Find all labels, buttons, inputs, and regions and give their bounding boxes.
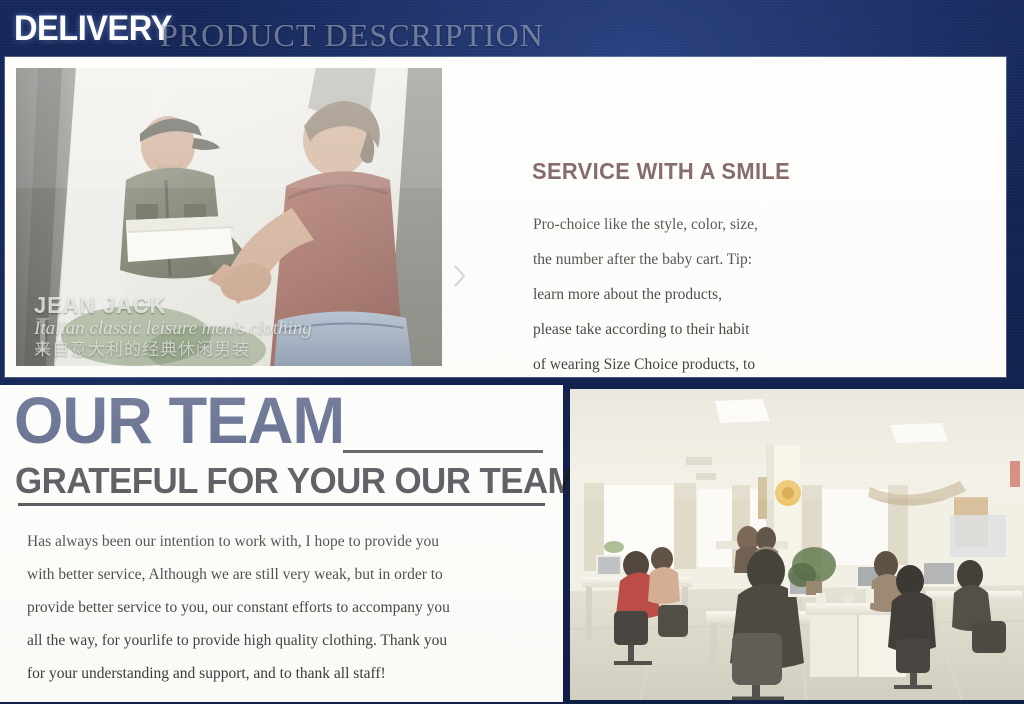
service-body-line: please take according to their habit [533,312,853,347]
service-body: Pro-choice like the style, color, size, … [533,207,853,417]
service-heading: SERVICE WITH A SMILE [532,158,790,185]
team-subtitle: GRATEFUL FOR YOUR OUR TEAM [15,463,576,499]
team-body-line: with better service, Although we are sti… [27,558,539,591]
service-body-line: the number after the baby cart. Tip: [533,242,853,277]
title-rule [343,450,543,453]
office-photo [570,389,1024,700]
subtitle-rule [18,503,545,506]
service-body-line: learn more about the products, [533,277,853,312]
banner-header: DELIVERY PRODUCT DESCRIPTION [0,0,1024,57]
team-body: Has always been our intention to work wi… [27,525,539,690]
service-body-line: Pro-choice like the style, color, size, [533,207,853,242]
page-title: DELIVERY [14,9,172,49]
chevron-right-icon [452,264,466,288]
team-body-line: provide better service to you, our const… [27,591,539,624]
team-body-line: for your understanding and support, and … [27,657,539,690]
service-body-line: of wearing Size Choice products, to [533,347,853,382]
team-body-line: all the way, for yourlife to provide hig… [27,624,539,657]
team-body-line: Has always been our intention to work wi… [27,525,539,558]
product-description-banner: DELIVERY PRODUCT DESCRIPTION [0,0,1024,704]
delivery-photo-illustration [16,68,442,366]
team-card: OUR TEAM GRATEFUL FOR YOUR OUR TEAM Has … [0,385,563,702]
office-photo-illustration [570,389,1024,700]
ghost-section-title: PRODUCT DESCRIPTION [160,17,544,54]
delivery-photo: I JEAN JACK Italian classic leisure men'… [16,68,442,366]
team-title: OUR TEAM [14,387,344,453]
delivery-card: I JEAN JACK Italian classic leisure men'… [5,57,1006,377]
